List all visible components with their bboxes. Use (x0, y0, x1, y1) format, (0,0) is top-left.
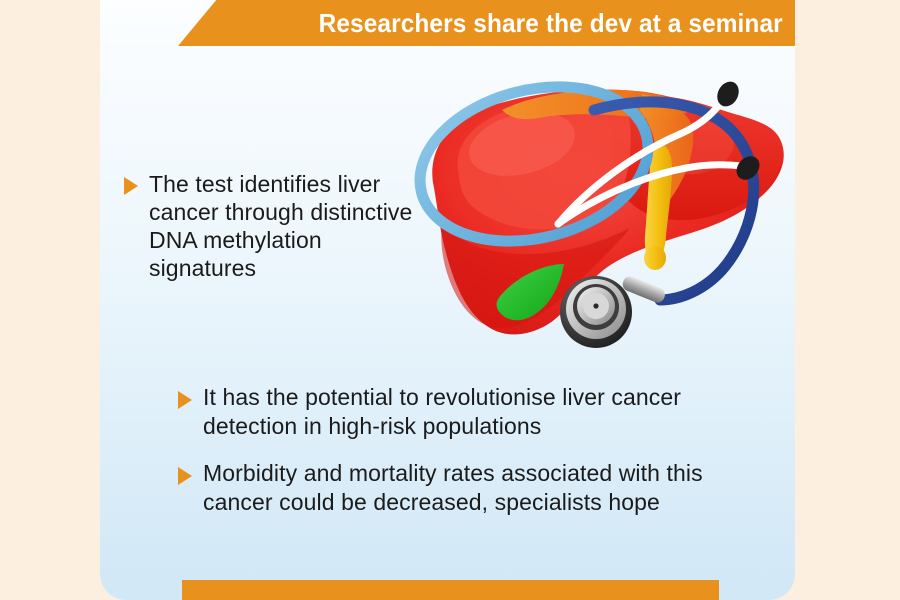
stethoscope-chest-piece (560, 276, 632, 348)
infographic-canvas: Researchers share the dev at a seminar (0, 0, 900, 600)
triangle-right-icon (178, 391, 192, 409)
list-item: It has the potential to revolutionise li… (178, 383, 738, 441)
bile-duct-tip (644, 246, 666, 270)
liver-with-stethoscope-illustration (398, 48, 794, 350)
list-item: Morbidity and mortality rates associated… (178, 459, 738, 517)
bullet-text: Morbidity and mortality rates associated… (203, 459, 738, 517)
primary-bullet: The test identifies liver cancer through… (124, 170, 424, 282)
bullet-list: It has the potential to revolutionise li… (178, 383, 738, 535)
footer-accent-bar (182, 580, 719, 600)
primary-bullet-text: The test identifies liver cancer through… (149, 170, 424, 282)
header-banner: Researchers share the dev at a seminar (178, 0, 795, 46)
triangle-right-icon (178, 467, 192, 485)
triangle-right-icon (124, 177, 138, 195)
banner-title: Researchers share the dev at a seminar (319, 8, 783, 39)
bullet-text: It has the potential to revolutionise li… (203, 383, 738, 441)
